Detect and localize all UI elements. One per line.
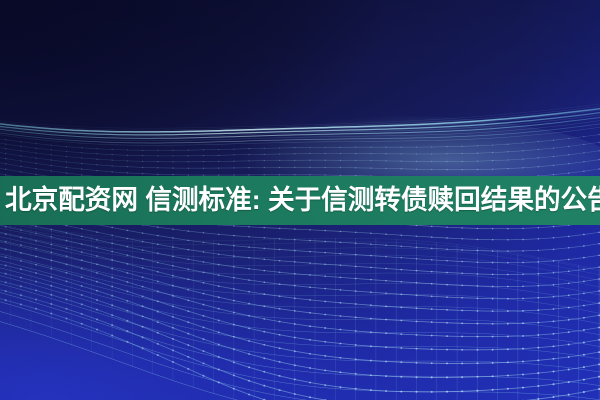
title-bar-text: 北京配资网 信测标准: 关于信测转债赎回结果的公告 xyxy=(5,187,600,214)
banner-image: 北京配资网 信测标准: 关于信测转债赎回结果的公告 xyxy=(0,0,600,400)
title-bar: 北京配资网 信测标准: 关于信测转债赎回结果的公告 xyxy=(0,176,600,225)
